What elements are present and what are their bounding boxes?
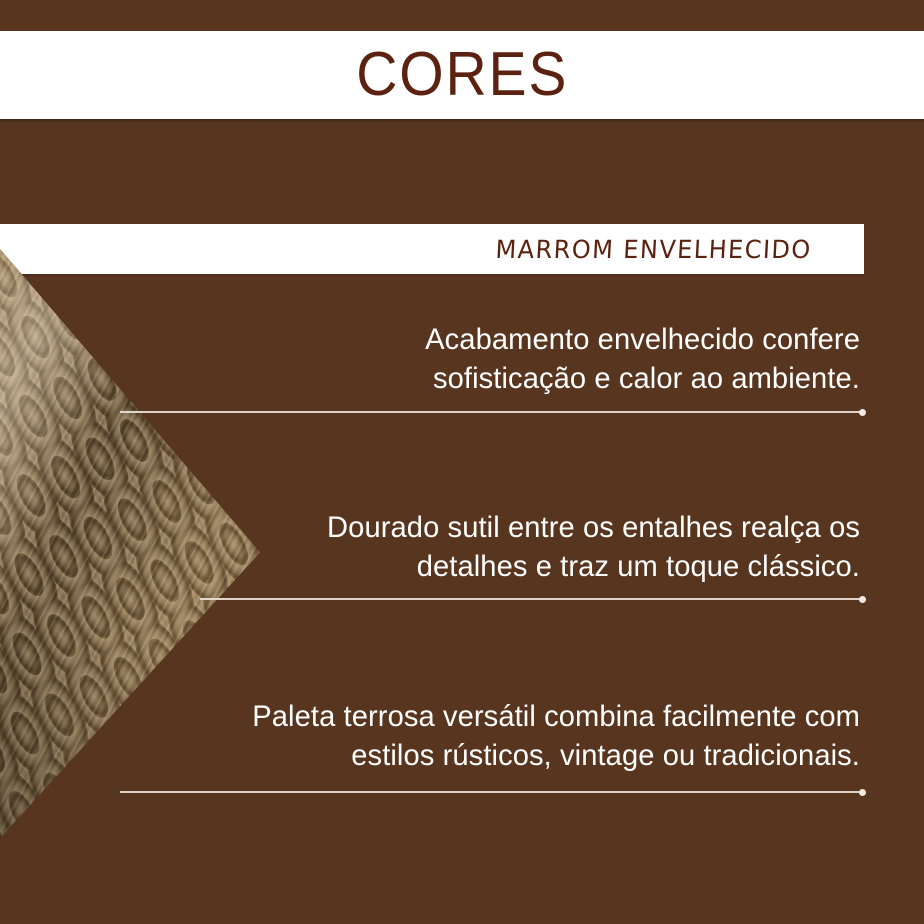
color-name-bar-shadow xyxy=(0,274,864,277)
cores-color-slide: CORES MARROM ENVELHECIDO Acabamento enve… xyxy=(0,0,924,924)
feature-3-line-2: estilos rústicos, vintage ou tradicionai… xyxy=(181,736,860,775)
color-name-label: MARROM ENVELHECIDO xyxy=(495,235,813,264)
feature-2-divider xyxy=(200,598,862,600)
feature-2-line-1: Dourado sutil entre os entalhes realça o… xyxy=(181,508,860,547)
color-name-bar: MARROM ENVELHECIDO xyxy=(0,224,864,274)
feature-2-divider-dot xyxy=(859,596,866,603)
feature-2-line-2: detalhes e traz um toque clássico. xyxy=(181,547,860,586)
feature-1-divider-dot xyxy=(859,409,866,416)
top-brown-strip xyxy=(0,0,924,31)
feature-3-divider xyxy=(120,791,862,793)
feature-block-3: Paleta terrosa versátil combina facilmen… xyxy=(160,697,860,775)
title-banner: CORES xyxy=(0,31,924,119)
feature-block-2: Dourado sutil entre os entalhes realça o… xyxy=(160,508,860,586)
feature-3-divider-dot xyxy=(859,789,866,796)
title-banner-shadow xyxy=(0,119,924,123)
feature-1-line-1: Acabamento envelhecido confere xyxy=(181,320,860,359)
feature-3-line-1: Paleta terrosa versátil combina facilmen… xyxy=(181,697,860,736)
page-title: CORES xyxy=(356,44,568,106)
feature-1-line-2: sofisticação e calor ao ambiente. xyxy=(181,359,860,398)
feature-block-1: Acabamento envelhecido confere sofistica… xyxy=(160,320,860,398)
feature-1-divider xyxy=(120,411,862,413)
